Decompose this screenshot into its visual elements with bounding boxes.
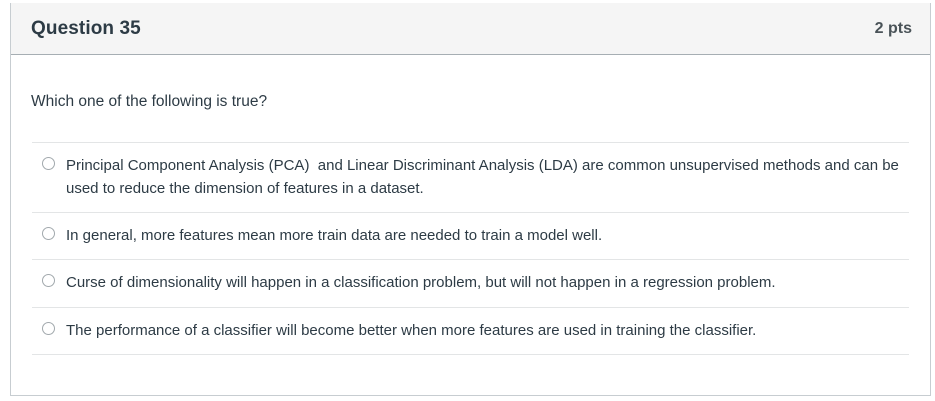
question-body: Which one of the following is true? Prin… bbox=[11, 55, 930, 355]
answer-option-label: In general, more features mean more trai… bbox=[66, 224, 602, 247]
question-title: Question 35 bbox=[31, 18, 141, 40]
question-card: Question 35 2 pts Which one of the follo… bbox=[10, 3, 931, 396]
radio-button-icon[interactable] bbox=[42, 322, 55, 335]
answer-list: Principal Component Analysis (PCA) and L… bbox=[32, 142, 909, 355]
radio-button-icon[interactable] bbox=[42, 227, 55, 240]
answer-option-label: Principal Component Analysis (PCA) and L… bbox=[66, 154, 905, 201]
answer-option-label: Curse of dimensionality will happen in a… bbox=[66, 271, 776, 294]
answer-option-label: The performance of a classifier will bec… bbox=[66, 319, 756, 342]
question-header: Question 35 2 pts bbox=[11, 3, 930, 55]
question-prompt: Which one of the following is true? bbox=[11, 55, 930, 113]
answer-option-4[interactable]: The performance of a classifier will bec… bbox=[32, 308, 909, 355]
radio-button-icon[interactable] bbox=[42, 157, 55, 170]
answer-option-2[interactable]: In general, more features mean more trai… bbox=[32, 213, 909, 260]
answer-option-3[interactable]: Curse of dimensionality will happen in a… bbox=[32, 260, 909, 307]
question-points: 2 pts bbox=[875, 20, 912, 38]
radio-button-icon[interactable] bbox=[42, 274, 55, 287]
answer-option-1[interactable]: Principal Component Analysis (PCA) and L… bbox=[32, 143, 909, 214]
